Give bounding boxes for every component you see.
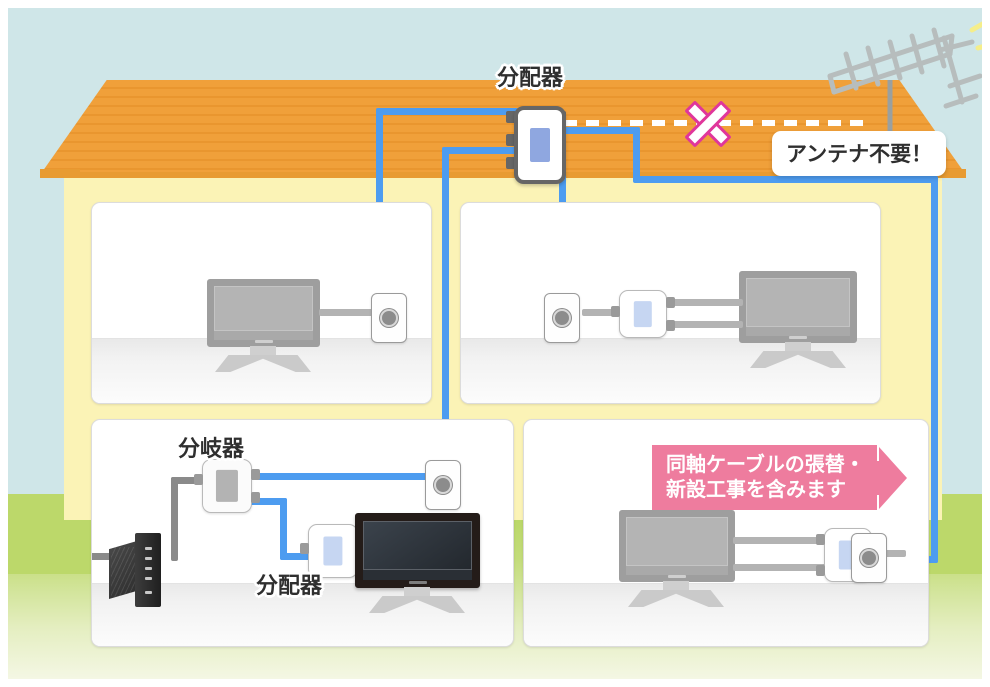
pink-banner: 同軸ケーブルの張替・ 新設工事を含みます bbox=[652, 445, 907, 510]
outlet-jack bbox=[380, 309, 398, 327]
tv-inactive bbox=[739, 271, 857, 343]
cable-tv-to-dist-1 bbox=[733, 537, 826, 544]
tv-active bbox=[355, 513, 480, 588]
distributor-lug bbox=[611, 306, 620, 317]
illustration-canvas: アンテナ不要！ 分配器 bbox=[0, 0, 990, 687]
distributor-lug bbox=[666, 297, 675, 308]
cable-right-wall-drop bbox=[931, 176, 938, 563]
banner-text: 同軸ケーブルの張替・ 新設工事を含みます bbox=[652, 445, 877, 510]
cable-roof-to-topleft bbox=[376, 108, 518, 115]
ont-modem-icon bbox=[109, 533, 171, 605]
roof-eave-left bbox=[40, 169, 80, 178]
cable-tv-to-dist-2 bbox=[733, 564, 826, 571]
wall-outlet-icon[interactable] bbox=[851, 533, 887, 583]
right-arrow-icon bbox=[877, 447, 907, 509]
branch-lug bbox=[194, 474, 203, 485]
distributor-lug bbox=[666, 320, 675, 331]
wall-outlet-icon[interactable] bbox=[371, 293, 407, 343]
cable-branch-to-outlet bbox=[247, 473, 437, 480]
branch-lug bbox=[251, 492, 260, 503]
cable-modem-up bbox=[171, 477, 178, 557]
roof-distributor-label: 分配器 bbox=[497, 60, 563, 92]
outlet-jack bbox=[553, 309, 571, 327]
no-antenna-callout: アンテナ不要！ bbox=[772, 131, 946, 176]
tv-inactive bbox=[207, 279, 320, 347]
room-floor bbox=[524, 583, 928, 646]
antenna-icon bbox=[794, 18, 982, 138]
cable-roof-right-horiz2 bbox=[633, 176, 938, 183]
room-top-right bbox=[460, 202, 881, 404]
room-distributor-label: 分配器 bbox=[256, 568, 322, 600]
cable-dist-to-tv-2 bbox=[665, 321, 743, 328]
wall-outlet-icon[interactable] bbox=[544, 293, 580, 343]
tv-inactive bbox=[619, 510, 735, 582]
cable-roof-right-horiz bbox=[556, 127, 640, 134]
cable-roof-right-drop1 bbox=[633, 127, 640, 182]
branch-device-label: 分岐器 bbox=[178, 431, 244, 463]
distributor-lug bbox=[300, 543, 309, 554]
banner-line-1: 同軸ケーブルの張替・ bbox=[666, 452, 865, 477]
distributor-chip bbox=[323, 536, 342, 565]
banner-line-2: 新設工事を含みます bbox=[666, 477, 865, 502]
outlet-jack bbox=[434, 476, 452, 494]
cable-tv-to-outlet bbox=[319, 309, 378, 316]
room-bottom-left bbox=[91, 419, 514, 647]
cable-branch-to-dist-v bbox=[280, 498, 287, 560]
x-cross-icon bbox=[680, 96, 736, 152]
room-floor bbox=[461, 338, 880, 403]
wall-outlet-icon[interactable] bbox=[425, 460, 461, 510]
cable-dist-in bbox=[280, 553, 310, 560]
distributor-chip bbox=[634, 301, 652, 327]
branch-lug bbox=[251, 469, 260, 480]
branch-core bbox=[216, 470, 238, 502]
outlet-jack bbox=[860, 549, 878, 567]
distributor-lug bbox=[816, 534, 825, 545]
roof-distributor[interactable] bbox=[514, 106, 566, 184]
branch-device[interactable] bbox=[202, 459, 252, 513]
cable-dist-to-tv-1 bbox=[665, 299, 743, 306]
distributor-lug bbox=[816, 565, 825, 576]
room-distributor[interactable] bbox=[619, 290, 667, 338]
cable-roof-to-bottomleft bbox=[442, 147, 520, 154]
sky-background: アンテナ不要！ 分配器 bbox=[8, 8, 982, 679]
distributor-chip bbox=[530, 128, 550, 162]
